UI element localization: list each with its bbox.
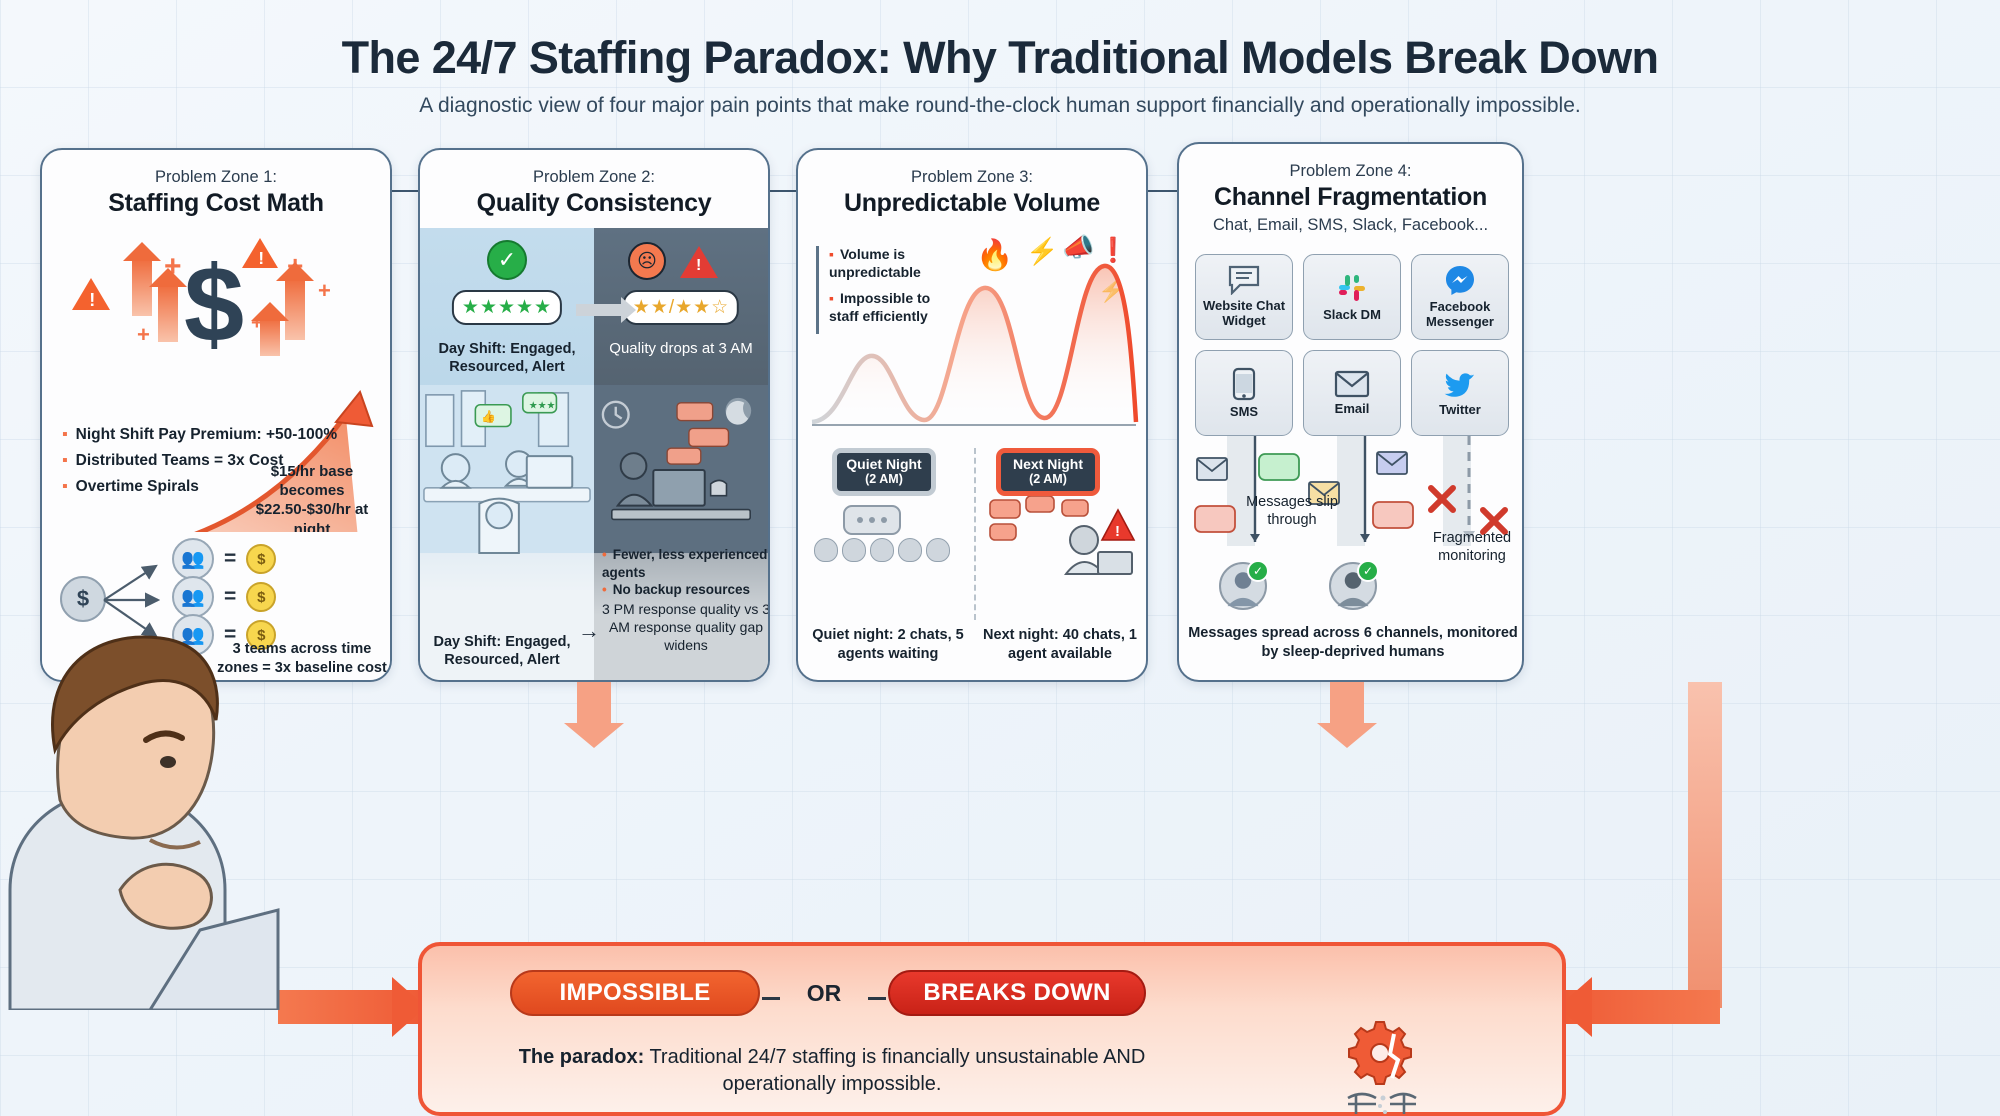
flow-arrow-zone2-to-banner [577,682,611,724]
breaks-down-pill: BREAKS DOWN [888,970,1146,1016]
next-night-footer: Next night: 40 chats, 1 agent available [978,626,1142,664]
agent-icon [870,538,894,562]
right-arrow-icon: → [578,618,600,644]
quiet-night-time: (2 AM) [865,473,903,487]
zone4-kicker: Problem Zone 4: [1179,144,1522,181]
volume-spike-chart [808,236,1140,432]
dollar-sign-icon: $ [184,250,244,358]
day-rating-stars: ★★★★★ [452,290,562,325]
night-bullet: No backup resources [602,581,770,599]
warning-triangle-icon: ! [242,238,278,268]
channel-label: Email [1335,402,1370,417]
waiting-agents-row [814,538,950,562]
day-shift-half: ✓ ★★★★★ Day Shift: Engaged, Resourced, A… [420,228,594,682]
paradox-statement: The paradox: Traditional 24/7 staffing i… [482,1044,1182,1098]
night-rating-stars: ★★/★★☆ [623,290,739,325]
channel-card-website-chat[interactable]: Website Chat Widget [1195,254,1293,340]
zone2-day-night-split: ✓ ★★★★★ Day Shift: Engaged, Resourced, A… [420,228,768,682]
zone1-callout: $15/hr base becomes $22.50-$30/hr at nig… [248,462,376,539]
channel-label: Facebook Messenger [1412,300,1508,330]
zone3-title: Unpredictable Volume [798,189,1146,218]
thinking-person-illustration [0,590,280,1010]
avatar: ✓ [1219,562,1267,610]
channel-card-twitter[interactable]: Twitter [1411,350,1509,436]
check-badge-icon: ✓ [1357,560,1379,582]
agent-icon [898,538,922,562]
agent-icon [926,538,950,562]
flow-arrow-right-into-banner [1560,990,1720,1024]
messages-slip-label: Messages slip through [1237,494,1347,529]
warning-triangle-icon: ! [680,246,718,278]
impossible-pill: IMPOSSIBLE [510,970,760,1016]
quiet-night-footer: Quiet night: 2 chats, 5 agents waiting [806,626,970,664]
night-bullet: Fewer, less experienced agents [602,546,770,581]
zone4-subtitle: Chat, Email, SMS, Slack, Facebook... [1179,216,1522,235]
fragmented-monitoring-label: Fragmented monitoring [1417,530,1524,565]
paradox-label: The paradox: [519,1046,645,1068]
page-title: The 24/7 Staffing Paradox: Why Tradition… [0,32,2000,84]
quiet-night-clock: Quiet Night (2 AM) [832,448,936,496]
busy-night-illustration: ! [988,496,1138,582]
next-night-clock: Next Night (2 AM) [996,448,1100,496]
twitter-bird-icon [1443,369,1477,399]
svg-text:!: ! [1115,523,1120,540]
channel-card-sms[interactable]: SMS [1195,350,1293,436]
problem-zone-4-panel[interactable]: Problem Zone 4: Channel Fragmentation Ch… [1177,142,1524,682]
people-icon: 👥 [172,538,214,580]
channel-label: Twitter [1439,403,1481,418]
broken-gear-bridge-icon [1346,1020,1476,1116]
conclusion-banner: IMPOSSIBLE OR BREAKS DOWN The paradox: T… [418,942,1566,1116]
chat-bubble-icon [1227,265,1261,295]
compare-divider [974,448,976,620]
channel-label: SMS [1230,405,1258,420]
up-arrow-icon [260,318,280,356]
flow-arrow-zone3-to-banner [1330,682,1364,724]
avatar: ✓ [1329,562,1377,610]
night-shift-label: Quality drops at 3 AM [594,340,768,359]
day-shift-label: Day Shift: Engaged, Resourced, Alert [420,340,594,376]
slack-icon [1336,272,1368,304]
day-shift-footer: Day Shift: Engaged, Resourced, Alert [426,633,578,670]
problem-zone-3-panel[interactable]: Problem Zone 3: Unpredictable Volume Vol… [796,148,1148,682]
channel-label: Website Chat Widget [1196,299,1292,329]
flow-arrow-left-into-banner [278,990,424,1024]
warning-triangle-icon: ! [72,278,110,310]
check-circle-icon: ✓ [487,240,527,280]
transition-arrow [576,304,622,316]
next-night-time: (2 AM) [1029,473,1067,487]
quiet-chat-bubbles [842,504,938,540]
team-cost-row: 👥 = $ [172,538,276,580]
night-bullet-list: Fewer, less experienced agents No backup… [602,546,770,599]
envelope-icon [1334,370,1370,398]
svg-text:★★★: ★★★ [529,401,556,412]
paradox-text: Traditional 24/7 staffing is financially… [644,1046,1145,1095]
zone2-kicker: Problem Zone 2: [420,150,768,187]
zone4-footer: Messages spread across 6 channels, monit… [1187,624,1519,662]
flow-pipe-right [1688,682,1722,1008]
coin-icon: $ [246,544,276,574]
page-subtitle: A diagnostic view of four major pain poi… [0,94,2000,118]
channel-row-top: Website Chat Widget Slack DM Fac [1195,254,1509,340]
equals-sign: = [224,547,236,571]
channel-card-messenger[interactable]: Facebook Messenger [1411,254,1509,340]
problem-zone-2-panel[interactable]: Problem Zone 2: Quality Consistency ✓ ★★… [418,148,770,682]
next-night-label: Next Night [1013,457,1083,472]
messenger-icon [1444,264,1476,296]
quiet-night-label: Quiet Night [846,457,921,472]
zone1-title: Staffing Cost Math [42,189,390,218]
zone3-kicker: Problem Zone 3: [798,150,1146,187]
zone1-bullet: Night Shift Pay Premium: +50-100% [62,422,337,448]
phone-icon [1232,367,1256,401]
zone4-title: Channel Fragmentation [1179,183,1522,212]
agent-icon [814,538,838,562]
channel-card-email[interactable]: Email [1303,350,1401,436]
infographic-canvas: The 24/7 Staffing Paradox: Why Tradition… [0,0,2000,1116]
up-arrow-icon [158,284,178,342]
plus-icon: + [318,278,331,304]
quality-gap-note: 3 PM response quality vs 3 AM response q… [598,600,770,655]
channel-label: Slack DM [1323,308,1381,323]
or-connector: OR [776,980,872,1007]
zone1-kicker: Problem Zone 1: [42,150,390,187]
night-office-illustration [594,384,768,554]
channel-card-slack[interactable]: Slack DM [1303,254,1401,340]
up-arrow-icon [132,258,152,316]
check-badge-icon: ✓ [1247,560,1269,582]
frowning-face-icon: ☹ [628,242,666,280]
day-office-illustration: 👍 ★★★ [420,384,594,554]
channel-row-bottom: SMS Email Twitter [1195,350,1509,436]
svg-text:👍: 👍 [481,410,496,424]
plus-icon: + [137,322,150,348]
agent-icon [842,538,866,562]
zone2-title: Quality Consistency [420,189,768,218]
